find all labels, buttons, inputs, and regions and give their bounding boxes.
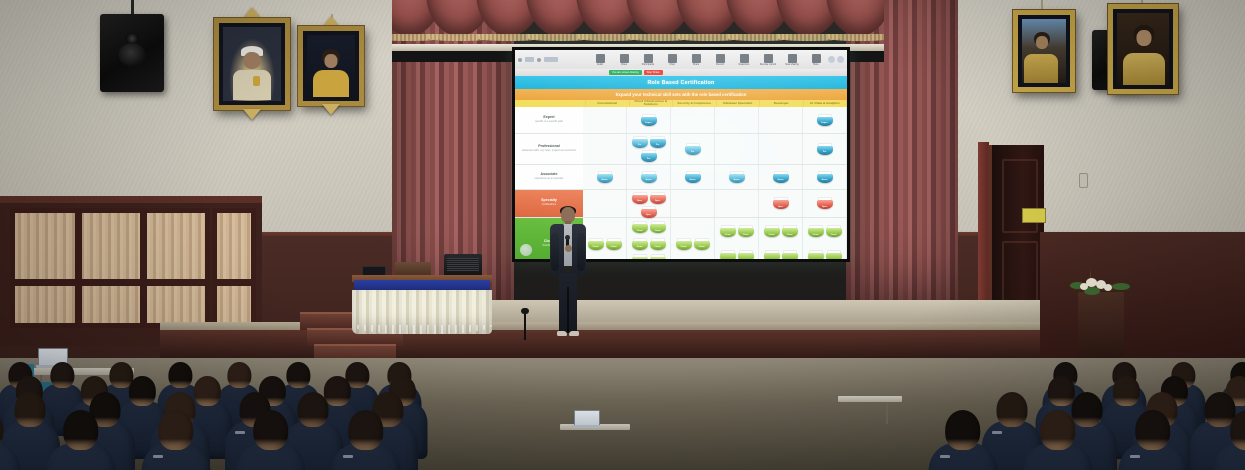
certification-badge: Cloud [650, 238, 666, 250]
badge-shield [817, 200, 833, 209]
sharing-status-badge: You are screen sharing [609, 70, 642, 75]
reactions-icon [740, 54, 749, 63]
badge-shield [826, 228, 842, 237]
speaker-left [100, 14, 164, 92]
list-item [235, 410, 306, 470]
badge-label: Cloud [650, 230, 666, 232]
conference-app-toolbar[interactable]: Audio Video Participants Chat [515, 50, 847, 70]
table-cell [583, 107, 627, 133]
badge-label: Expert [817, 122, 833, 124]
table-cell: Expert [627, 107, 671, 133]
table-cell: CloudCloud [671, 218, 715, 259]
certification-badge: Cloud [826, 225, 842, 237]
presenter-legs [559, 273, 577, 333]
camera-icon [620, 54, 629, 63]
badge-shield [650, 257, 666, 259]
table-cell: ProProPro [627, 134, 671, 164]
portrait-left-2 [298, 26, 364, 106]
certification-badge: Cloud [650, 254, 666, 259]
badge-label: Cloud [588, 246, 604, 248]
ribbon-item-new-sharing[interactable]: New sharing [780, 54, 804, 66]
certification-badge: Cloud [606, 238, 622, 250]
badge-label: Pro [632, 144, 648, 146]
audience [0, 340, 1245, 470]
certification-badge: Cloud [676, 238, 692, 250]
ribbon-item-video[interactable]: Video [612, 54, 636, 66]
ribbon-item-chat[interactable]: Chat [660, 54, 684, 66]
student-head [1040, 410, 1076, 450]
curtain-valance [392, 0, 884, 48]
certification-badge: Pro [817, 143, 833, 155]
ribbon-item-remote-control[interactable]: Remote control [756, 54, 780, 66]
certification-badge: Cloud [632, 221, 648, 233]
table-cell [715, 107, 759, 133]
badge-label: Assoc [817, 179, 833, 181]
microphone-stand [524, 312, 526, 340]
badge-shield [694, 241, 710, 250]
badge-label: Expert [641, 122, 657, 124]
badge-label: Cloud [808, 234, 824, 236]
table-cell: SpecSpecSpec [627, 190, 671, 217]
badge-shield [650, 224, 666, 233]
badge-label: Pro [650, 144, 666, 146]
badge-label: Cloud [632, 246, 648, 248]
slide-subtitle: Expand your technical skill sets with th… [515, 89, 847, 100]
participants-icon [644, 54, 653, 63]
table-cell: CloudCloudCloudCloud [803, 218, 847, 259]
table-cell [583, 134, 627, 164]
badge-label: Cloud [782, 234, 798, 236]
left-window [10, 208, 210, 328]
student-head [945, 410, 981, 450]
certification-badge: Cloud [782, 225, 798, 237]
table-cell: Pro [803, 134, 847, 164]
record-icon [716, 54, 725, 63]
certification-badge: Cloud [808, 225, 824, 237]
table-cell [671, 107, 715, 133]
ribbon-label: Share [693, 64, 699, 66]
badge-shield [632, 195, 648, 204]
badge-label: Cloud [720, 234, 736, 236]
student-head [348, 410, 384, 450]
table-header-row: Foundational Cloud Infrastructure & Solu… [515, 100, 847, 107]
certification-badge: Assoc [817, 171, 833, 183]
presenter-shoe-right [569, 331, 579, 336]
certification-badge: Cloud [720, 250, 736, 259]
list-item [927, 410, 998, 470]
table-cell: Assoc [715, 165, 759, 189]
share-screen-icon [692, 54, 701, 63]
badge-shield [650, 241, 666, 250]
table-cell: CloudCloudCloudCloudCloudCloud [627, 218, 671, 259]
table-cell: Spec [759, 190, 803, 217]
settings-button[interactable] [837, 56, 844, 63]
certification-badge: Cloud [720, 225, 736, 237]
table-cell: CloudCloudCloudCloud [759, 218, 803, 259]
laptop[interactable] [572, 410, 600, 429]
badge-shield [764, 228, 780, 237]
column-header: Database Specialist [717, 100, 761, 107]
row-level-label: Associateexperience as an operator [515, 165, 583, 189]
certification-badge: Cloud [782, 250, 798, 259]
row-level-desc: advanced skills, any roles, projects and… [522, 150, 576, 153]
slide-logo [520, 244, 532, 256]
badge-label: Pro [685, 151, 701, 153]
certification-badge: Cloud [764, 250, 780, 259]
remote-control-icon [764, 54, 773, 63]
table-cell [671, 190, 715, 217]
badge-label: Assoc [729, 179, 745, 181]
badge-label: Assoc [641, 179, 657, 181]
row-level-desc: specific to a specific path [535, 121, 563, 124]
uniform-shoulder-patch [940, 455, 950, 458]
certification-badge: Pro [685, 143, 701, 155]
badge-shield [676, 241, 692, 250]
badge-shield [738, 228, 754, 237]
list-item [1022, 410, 1093, 470]
certification-badge: Assoc [773, 171, 789, 183]
ribbon-item-reactions[interactable]: Reactions [732, 54, 756, 66]
certification-badge: Spec [817, 197, 833, 209]
autosave-toggle[interactable] [525, 57, 534, 62]
uniform-shoulder-patch [1130, 455, 1140, 458]
certification-badge: Cloud [694, 238, 710, 250]
ribbon-label: Chat [669, 64, 674, 66]
badge-shield [632, 257, 648, 259]
certification-badge: Spec [773, 197, 789, 209]
row-level-desc: experience as an operator [534, 178, 563, 181]
student-body [0, 443, 20, 470]
badge-shield [685, 146, 701, 155]
slide-title: Role Based Certification [515, 76, 847, 89]
table-cell: Assoc [627, 165, 671, 189]
uniform-shoulder-patch [343, 455, 353, 458]
badge-shield [650, 139, 666, 148]
table-cell [715, 190, 759, 217]
undo-redo-group[interactable] [544, 57, 558, 62]
certification-badge: Cloud [588, 238, 604, 250]
badge-label: Assoc [597, 179, 613, 181]
student-head [158, 410, 194, 450]
certification-badge: Cloud [764, 225, 780, 237]
minimize-button[interactable] [828, 56, 835, 63]
badge-label: Pro [817, 151, 833, 153]
portrait-right-1 [1013, 10, 1075, 92]
table-cell: Assoc [671, 165, 715, 189]
table-cell [759, 107, 803, 133]
badge-label: Spec [817, 206, 833, 208]
badge-shield [588, 241, 604, 250]
app-toolbar-left [515, 57, 588, 62]
screen-share-status-bar: You are screen sharing Stop Share [515, 69, 847, 76]
badge-shield [720, 228, 736, 237]
certification-badge: Cloud [650, 221, 666, 233]
table-skirt [352, 290, 492, 334]
badge-shield [606, 241, 622, 250]
badge-shield [773, 200, 789, 209]
microphone-icon [596, 54, 605, 63]
left-window-secondary [212, 208, 256, 328]
student-head [63, 410, 99, 450]
chat-icon [668, 54, 677, 63]
table-row: Associateexperience as an operatorAssocA… [515, 165, 847, 190]
list-item [1117, 410, 1188, 470]
list-item [0, 410, 21, 470]
badge-shield [650, 195, 666, 204]
badge-label: Spec [773, 206, 789, 208]
table-cell: Assoc [803, 165, 847, 189]
table-cell [583, 190, 627, 217]
badge-label: Cloud [826, 234, 842, 236]
ribbon-label: Participants [642, 64, 655, 66]
certification-badge: Cloud [826, 250, 842, 259]
student-head [253, 410, 289, 450]
ribbon-label: Reactions [739, 64, 750, 66]
ribbon-icon-row: Audio Video Participants Chat [588, 53, 828, 66]
auditorium-scene: Audio Video Participants Chat [0, 0, 1245, 470]
certification-badge: Cloud [738, 250, 754, 259]
certification-badge: Assoc [729, 171, 745, 183]
badge-label: Assoc [773, 179, 789, 181]
row-level-label: Expertspecific to a specific path [515, 107, 583, 133]
badge-shield [782, 228, 798, 237]
list-item [45, 410, 116, 470]
certification-badge: Cloud [632, 254, 648, 259]
certification-badge: Assoc [597, 171, 613, 183]
presenter [548, 207, 588, 347]
portrait-hook [1042, 0, 1043, 10]
table-row: Professionaladvanced skills, any roles, … [515, 134, 847, 165]
table-cell: Spec [803, 190, 847, 217]
list-item [140, 410, 211, 470]
badge-shield [808, 228, 824, 237]
certification-badge: Pro [650, 136, 666, 148]
table-cell [759, 134, 803, 164]
badge-label: Pro [641, 158, 657, 160]
list-item [330, 410, 401, 470]
ribbon-label: Video [621, 64, 627, 66]
presenter-arm-left [551, 233, 559, 271]
table-cell: CloudCloudCloudCloud [715, 218, 759, 259]
table-cell: Pro [671, 134, 715, 164]
certification-badge: Spec [650, 192, 666, 204]
table-cell: Assoc [583, 165, 627, 189]
presenter-arm-right [577, 233, 585, 271]
ribbon-item-share[interactable]: Share [684, 54, 708, 66]
ribbon-label: New sharing [785, 64, 798, 66]
badge-label: Spec [632, 200, 648, 202]
column-header: Foundational [586, 100, 630, 107]
certification-badge: Cloud [738, 225, 754, 237]
portrait-right-2 [1108, 4, 1178, 94]
head-table [352, 275, 492, 337]
certification-badge: Cloud [632, 238, 648, 250]
certification-badge: Spec [632, 192, 648, 204]
certification-badge: Pro [632, 136, 648, 148]
column-header: Security & Compliance [673, 100, 717, 107]
column-header: Developer [760, 100, 804, 107]
badge-label: Cloud [694, 246, 710, 248]
certification-badge: Assoc [641, 171, 657, 183]
table-cell: Expert [803, 107, 847, 133]
badge-shield [641, 209, 657, 218]
student-head [1135, 410, 1171, 450]
badge-label: Spec [650, 200, 666, 202]
exit-sign [1022, 208, 1046, 223]
badge-shield [632, 224, 648, 233]
table-corner-cell [515, 100, 586, 107]
badge-shield [817, 146, 833, 155]
row-level-label: Professionaladvanced skills, any roles, … [515, 134, 583, 164]
ribbon-label: More [813, 64, 818, 66]
menu-icon[interactable] [518, 58, 522, 62]
ribbon-item-audio[interactable]: Audio [588, 54, 612, 66]
table-cell [715, 134, 759, 164]
app-toolbar-right [828, 56, 847, 63]
ribbon-label: Remote control [760, 64, 776, 66]
table-cell: CloudCloud [583, 218, 627, 259]
badge-label: Cloud [676, 246, 692, 248]
badge-label: Cloud [738, 234, 754, 236]
stop-share-button[interactable]: Stop Share [644, 70, 663, 75]
certification-badge: Expert [641, 114, 657, 126]
column-header: AI / Data & Analytics [804, 100, 848, 107]
flower-arrangement [1068, 270, 1134, 296]
badge-label: Assoc [685, 179, 701, 181]
column-header: Cloud Infrastructure & Solutions [630, 100, 674, 107]
ribbon-item-record[interactable]: Record [708, 54, 732, 66]
light-switch[interactable] [1079, 173, 1088, 188]
certification-badge: Expert [817, 114, 833, 126]
ribbon-item-participants[interactable]: Participants [636, 54, 660, 66]
ribbon-label: Record [716, 64, 724, 66]
speaker-left-stem [131, 0, 134, 14]
badge-label: Cloud [606, 246, 622, 248]
badge-label: Spec [641, 214, 657, 216]
table-row: Expertspecific to a specific pathExpertE… [515, 107, 847, 134]
badge-label: Cloud [632, 230, 648, 232]
new-share-icon [788, 54, 797, 63]
ribbon-item-more[interactable]: More [804, 54, 828, 66]
certification-badge: Cloud [808, 250, 824, 259]
more-icon [812, 54, 821, 63]
badge-label: Cloud [764, 234, 780, 236]
uniform-shoulder-patch [153, 455, 163, 458]
badge-label: Cloud [650, 246, 666, 248]
desk-leg [886, 402, 888, 424]
save-icon[interactable] [537, 58, 541, 62]
badge-shield [632, 241, 648, 250]
certification-badge: Pro [641, 150, 657, 162]
desk [838, 396, 902, 402]
portrait-left-1 [214, 18, 290, 110]
badge-shield [632, 139, 648, 148]
list-item [1212, 410, 1245, 470]
presenter-shoe-left [557, 331, 567, 336]
ribbon-label: Audio [597, 64, 603, 66]
badge-shield [641, 153, 657, 162]
certification-badge: Assoc [685, 171, 701, 183]
certification-badge: Spec [641, 206, 657, 218]
presenter-hand [565, 245, 572, 252]
table-cell: Assoc [759, 165, 803, 189]
